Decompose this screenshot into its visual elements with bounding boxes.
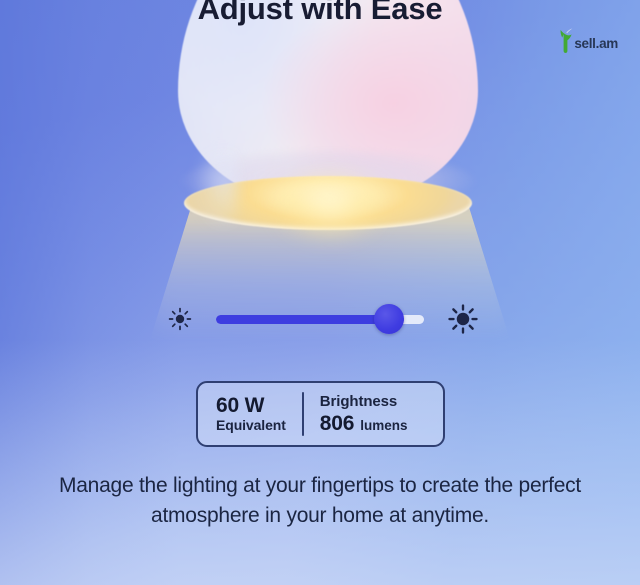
spec-brightness-unit: lumens <box>360 418 407 433</box>
slider-track[interactable] <box>216 306 424 332</box>
promo-slide: Adjust with Ease sell.am <box>0 0 640 585</box>
bulb-rim-shadow <box>178 150 478 220</box>
bulb-opening-highlight <box>262 182 392 216</box>
bulb-opening <box>184 176 472 230</box>
spec-brightness-label: Brightness <box>320 393 408 412</box>
spec-brightness: Brightness 806 lumens <box>304 383 420 445</box>
spec-wattage-value: 60 W <box>216 394 286 418</box>
description-text: Manage the lighting at your fingertips t… <box>44 471 596 532</box>
bulb-shade <box>178 0 478 205</box>
spec-wattage: 60 W Equivalent <box>198 383 302 445</box>
spec-wattage-label: Equivalent <box>216 417 286 434</box>
spec-box: 60 W Equivalent Brightness 806 lumens <box>196 381 445 447</box>
brightness-slider[interactable] <box>168 303 478 335</box>
brand-wordmark: sell.am <box>574 37 618 51</box>
sun-dim-icon[interactable] <box>168 307 192 331</box>
bulb-left-fade <box>168 150 238 260</box>
brand-logo: sell.am <box>557 28 618 53</box>
light-glow-core <box>255 176 405 276</box>
spec-brightness-value: 806 <box>320 412 354 436</box>
leaf-icon <box>557 28 573 54</box>
sun-bright-icon[interactable] <box>448 304 478 334</box>
slider-thumb[interactable] <box>374 304 404 334</box>
page-title: Adjust with Ease <box>0 0 640 27</box>
